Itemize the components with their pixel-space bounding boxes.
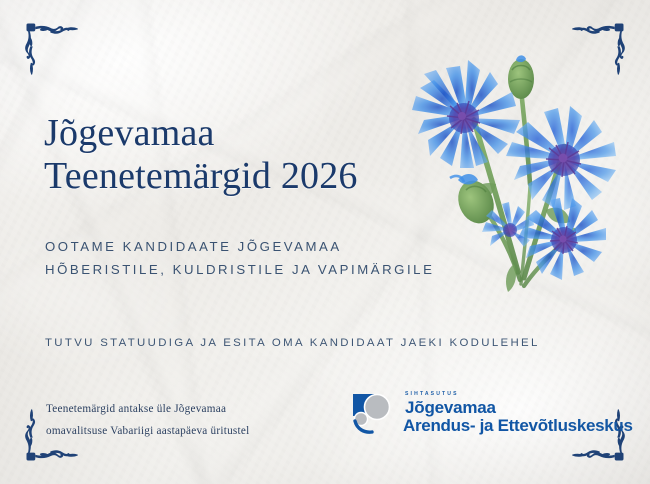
logo-eyebrow: SIHTASUTUS	[405, 392, 633, 397]
logo-line-1: Jõgevamaa	[405, 399, 633, 416]
corner-ornament-top-left-icon	[7, 6, 85, 84]
poster-subtitle: OOTAME KANDIDAATE JÕGEVAMAA HÕBERISTILE,…	[45, 236, 434, 281]
logo-line-2: Arendus- ja Ettevõtluskeskus	[403, 417, 633, 434]
page-title: Jõgevamaa Teenetemärgid 2026	[44, 112, 358, 198]
organisation-logo[interactable]: SIHTASUTUS Jõgevamaa Arendus- ja Ettevõt…	[352, 391, 633, 435]
cornflower-bloom-1	[412, 60, 520, 168]
poster-call-to-action: TUTVU STATUUDIGA JA ESITA OMA KANDIDAAT …	[45, 337, 540, 349]
logo-mark-icon	[352, 391, 396, 435]
logo-wordmark: SIHTASUTUS Jõgevamaa Arendus- ja Ettevõt…	[403, 392, 633, 434]
poster-footnote: Teenetemärgid antakse üle Jõgevamaa omav…	[46, 399, 249, 443]
poster-canvas: Jõgevamaa Teenetemärgid 2026 OOTAME KAND…	[0, 0, 650, 484]
cornflower-bloom-3	[518, 198, 606, 280]
